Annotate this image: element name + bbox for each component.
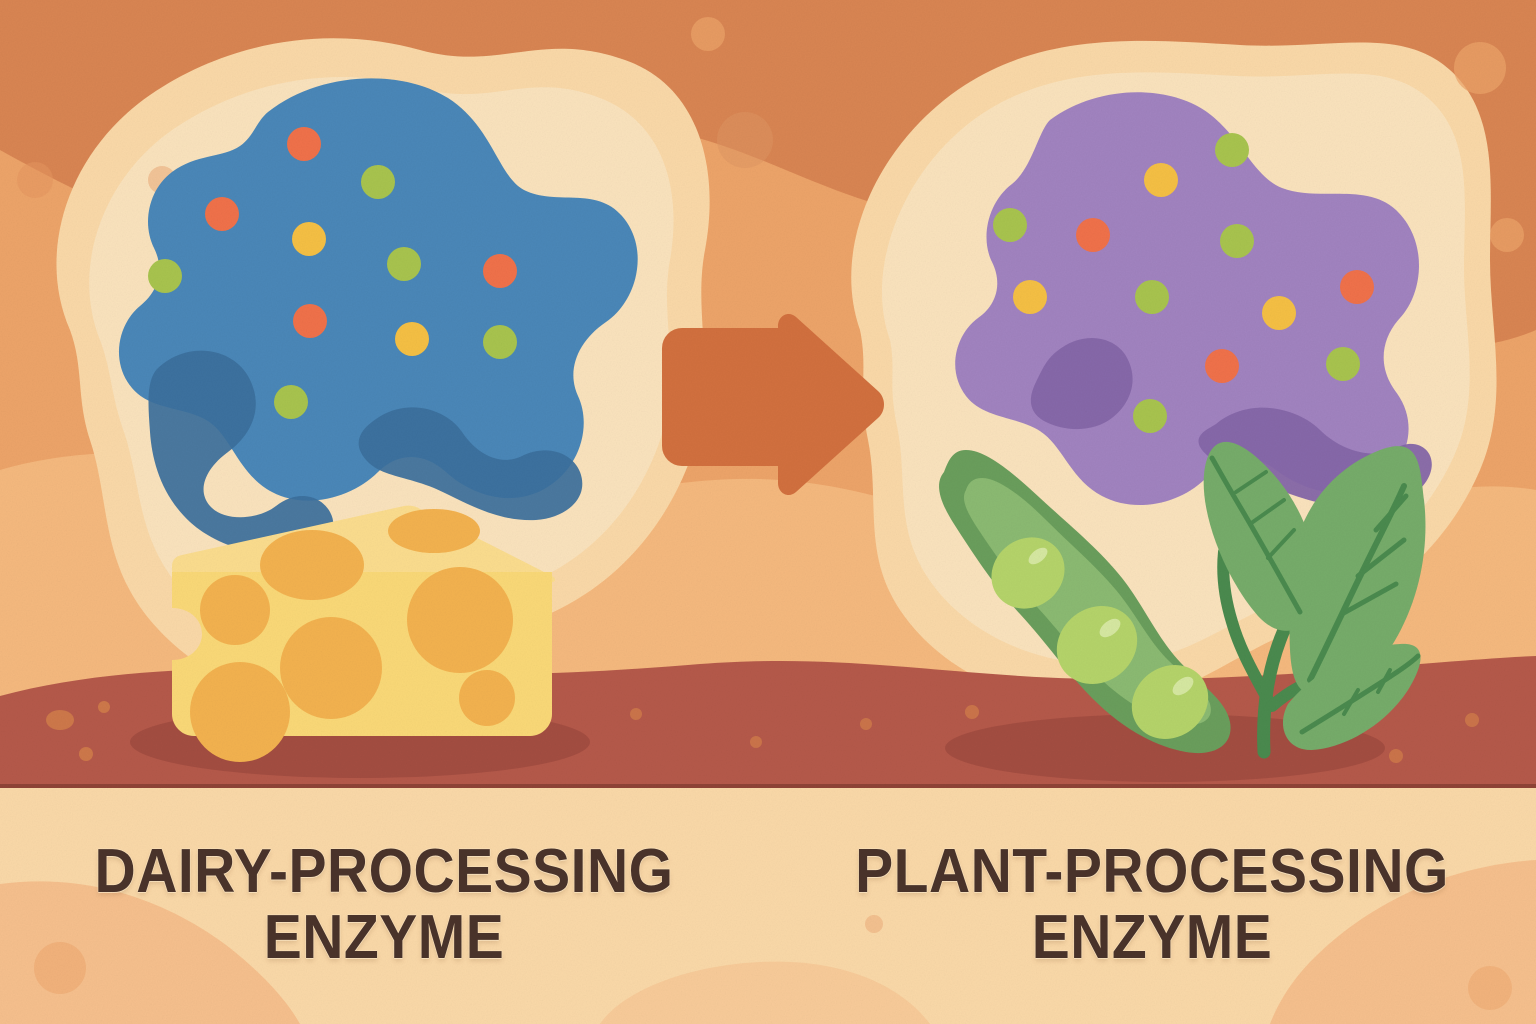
caption-band-circle-3 <box>1468 966 1512 1010</box>
caption-band-circle-2 <box>865 915 883 933</box>
caption-band-layer <box>0 0 1536 1024</box>
caption-band-divider <box>0 784 1536 788</box>
caption-band-circle-1 <box>34 942 86 994</box>
illustration-canvas: DAIRY-PROCESSING ENZYME PLANT-PROCESSING… <box>0 0 1536 1024</box>
